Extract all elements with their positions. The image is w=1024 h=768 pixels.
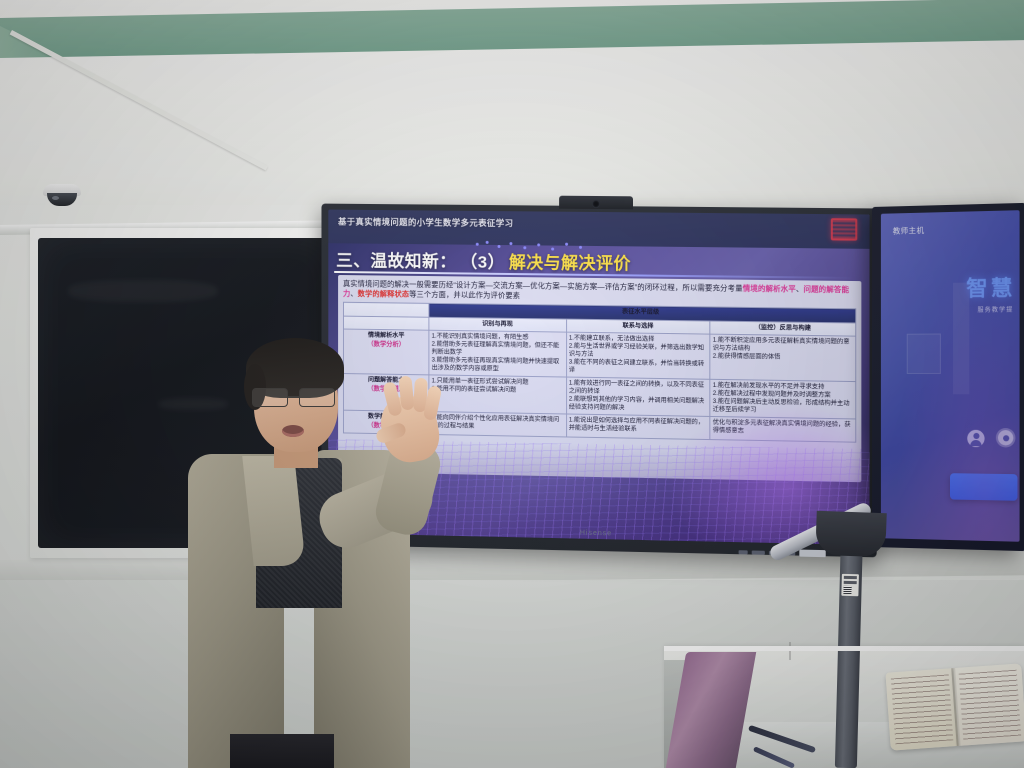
presenting-teacher [186,330,436,768]
tv-camera-icon [559,196,633,210]
camera-glint [52,196,59,200]
table-corner-cell [343,303,429,317]
mouth [282,425,304,437]
teacher-host-screen[interactable]: 教师主机 智慧 服务教学提 [881,210,1020,542]
login-button[interactable] [950,473,1018,501]
slide-header-title: 基于真实情境问题的小学生数学多元表征学习 [338,216,513,230]
display-brand-label: Hisense [580,530,612,538]
cell-r2c1: 1.只能用单一表征形式尝试解决问题 2.能用不同的表征尝试解决问题 [429,375,566,414]
teacher-host-label: 教师主机 [893,225,925,237]
slide-paragraph: 真实情境问题的解决一般需要历经“设计方案—交流方案—优化方案—实施方案—评估方案… [343,279,856,306]
paragraph-keyword-3: 数学的解释状态 [358,289,409,299]
asset-qr-tag [841,574,859,596]
slide-title-number: （3） [460,247,504,272]
paragraph-tail: 等三个方面，并以此作为评价要素 [409,290,520,300]
background-reflection [907,334,941,374]
cell-r3c1: 1.能向同伴介绍个性化应用表征解决真实情境问题的过程与结果 [429,412,566,437]
notebook-left-page [885,668,958,751]
background-reflection-2 [953,283,969,395]
glasses-icon [252,388,342,407]
user-icon[interactable] [967,430,984,447]
cell-r1c2: 1.不能建立联系，无法做出选择 2.能与生活世界或学习经验关联，并筛选出数学知识… [566,332,710,380]
paragraph-sep-2: 、 [350,289,357,298]
cell-r1c1: 1.不能识别真实情境问题，有陌生感 2.能借助多元表征理解真实情境问题，但还不能… [429,330,566,377]
paragraph-keyword-1: 情境的解析水平 [743,284,796,294]
slide-title-prefix: 三、温故知新： [336,246,456,272]
cell-r1c3: 1.能不断积淀应用多元表征解析真实情境问题的意识与方法结构 2.能获得情感层面的… [710,334,856,382]
table-corner-cell-2 [343,316,429,330]
chalk-smudge [68,280,218,302]
microphone-head [815,511,886,557]
trousers [230,734,334,768]
slide-title-highlight: 解决与解决评价 [509,248,631,274]
dome-camera-icon [43,184,81,208]
teacher-host-subtitle: 服务教学提 [977,304,1013,314]
open-notebook[interactable] [885,663,1024,750]
desk-edge [664,646,1024,651]
wall-scuff [789,642,791,660]
camera-lens [47,193,77,206]
notebook-right-page [953,663,1024,746]
paragraph-sep-1: 、 [796,284,804,293]
classroom-scene: 基于真实情境问题的小学生数学多元表征学习 三、温故知新： （3） 解决与解决评价… [0,0,1024,768]
teacher-host-title: 智慧 [966,272,1015,303]
finger [398,375,414,410]
teacher-host-panel[interactable]: 教师主机 智慧 服务教学提 [872,203,1024,551]
red-stamp-watermark [831,218,857,240]
gear-icon[interactable] [998,430,1013,445]
